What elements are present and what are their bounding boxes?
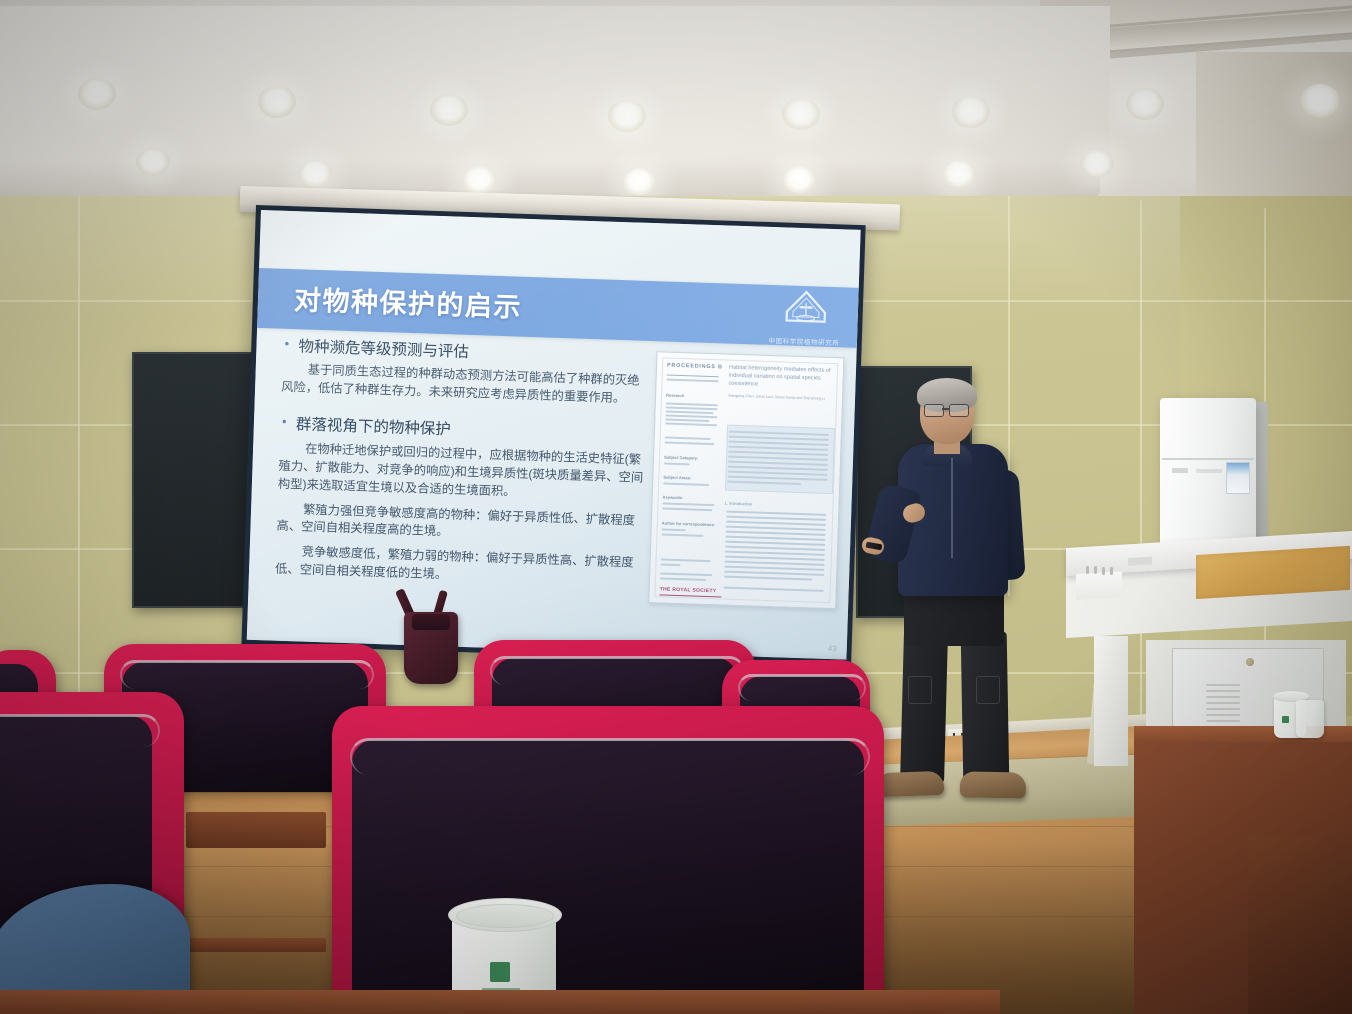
ceiling-downlight <box>782 166 816 194</box>
ceiling-downlight <box>1300 84 1340 118</box>
podium-leg <box>1094 636 1128 766</box>
ceiling-downlight <box>298 160 332 188</box>
ibcas-logo: 中国科学院植物研究所 <box>763 289 847 348</box>
ceiling-downlight <box>1080 150 1114 178</box>
projection-screen: 对物种保护的启示 中国科学院植物研究所 物种濒危等级预测与评估 基于同质生态过程… <box>247 210 861 660</box>
podium-button-icon[interactable] <box>1102 567 1105 575</box>
air-conditioner-brand <box>1172 468 1188 473</box>
ibcas-logo-icon <box>784 289 829 324</box>
blackboard-left <box>132 352 260 608</box>
cabinet-vent-slot <box>1206 690 1240 692</box>
presenter-shoe-right <box>960 771 1026 798</box>
ceiling-downlight <box>136 148 170 176</box>
trouser-pocket <box>908 676 932 704</box>
podium-button-icon[interactable] <box>1094 566 1097 574</box>
paper-cup-logo <box>490 962 510 982</box>
paper-meta-label: Subject Areas: <box>663 474 691 480</box>
paper-cup-logo <box>1282 716 1289 723</box>
slide-paragraph: 竞争敏感度低，繁殖力弱的物种：偏好于异质性高、扩散程度低、空间自相关程度低的生境… <box>275 543 646 591</box>
ceiling-downlight <box>430 94 468 126</box>
slide-body: 物种濒危等级预测与评估 基于同质生态过程的种群动态预测方法可能高估了种群的灭绝风… <box>275 337 653 598</box>
podium-label-tag <box>1128 557 1152 566</box>
presenter-leg-right <box>961 632 1010 785</box>
eyeglasses-bridge <box>942 408 949 410</box>
ceiling-downlight <box>952 96 990 128</box>
paper-intro-heading: 1. Introduction <box>724 501 752 507</box>
cabinet-vent-slot <box>1206 702 1240 704</box>
seat-piping <box>490 656 744 685</box>
paper-cup-lid-inner <box>456 904 554 928</box>
paper-meta-label: Keywords: <box>663 494 684 500</box>
ceiling-downlight <box>1126 88 1164 120</box>
cabinet-vent-slot <box>1206 708 1240 710</box>
ceiling-downlight <box>942 160 976 188</box>
podium-button-icon[interactable] <box>1086 566 1089 574</box>
ceiling-downlight <box>462 166 496 194</box>
energy-label-badge <box>1226 462 1250 494</box>
paper-thumbnail: PROCEEDINGS B Habitat heterogeneity medi… <box>648 351 844 609</box>
seat-piping <box>738 674 866 701</box>
trouser-pocket <box>976 676 1000 704</box>
ceiling-downlight <box>622 168 656 196</box>
eyeglasses-lens-right <box>949 404 969 417</box>
seat-back-cushion <box>352 740 864 1014</box>
slide-title: 对物种保护的启示 <box>293 278 522 325</box>
air-conditioner-model-label <box>1196 469 1222 473</box>
cabinet-vent-slot <box>1206 720 1240 722</box>
podium-front-panel <box>1196 546 1350 599</box>
lecture-hall-photo: 对物种保护的启示 中国科学院植物研究所 物种濒危等级预测与评估 基于同质生态过程… <box>0 0 1352 1014</box>
seat-piping <box>120 660 374 689</box>
podium-control-panel[interactable] <box>1076 571 1122 600</box>
ceiling-downlight <box>78 78 116 110</box>
podium-button-icon[interactable] <box>1110 567 1113 575</box>
presenter-leg-left <box>900 631 948 784</box>
presenter-shoe-left <box>878 771 945 797</box>
cabinet-vent-slot <box>1206 714 1240 716</box>
slide-paragraph: 在物种迁地保护或回归的过程中，应根据物种的生活史特征(繁殖力、扩散能力、对竞争的… <box>278 439 650 505</box>
ceiling-downlight <box>608 100 646 132</box>
handbag-flap <box>412 614 450 630</box>
slide-paragraph: 基于同质生态过程的种群动态预测方法可能高估了种群的灭绝风险，低估了种群生存力。未… <box>281 361 652 409</box>
seat-piping <box>0 714 160 747</box>
cabinet-vent-slot <box>1206 684 1240 686</box>
air-conditioner-seam <box>1162 458 1254 460</box>
slide-paragraph: 繁殖力强但竞争敏感度高的物种：偏好于异质性低、扩散程度高、空间自相关程度高的生境… <box>276 500 647 548</box>
seat-desk-shelf <box>186 812 326 848</box>
paper-cup-behind[interactable] <box>1296 700 1324 738</box>
wall-grout-line <box>1140 200 1142 720</box>
ceiling-downlight <box>258 86 296 118</box>
seat-piping <box>350 738 870 775</box>
front-desk-edge <box>0 990 1000 1014</box>
seat-desk-shelf <box>178 938 326 952</box>
wall-grout-line <box>78 196 80 716</box>
ceiling-downlight <box>782 98 820 130</box>
paper-title: Habitat heterogeneity mediates effects o… <box>728 364 835 392</box>
paper-section-label: Research <box>666 393 684 399</box>
presentation-slide: 对物种保护的启示 中国科学院植物研究所 物种濒危等级预测与评估 基于同质生态过程… <box>247 210 861 660</box>
wooden-desk-far-right[interactable] <box>1248 836 1352 1014</box>
ibcas-logo-caption: 中国科学院植物研究所 <box>763 335 845 348</box>
slide-number: 43 <box>828 644 837 653</box>
cabinet-knob-icon[interactable] <box>1246 658 1254 666</box>
jacket-zipper <box>951 458 953 558</box>
cabinet-vent-slot <box>1206 696 1240 698</box>
eyeglasses-lens-left <box>924 404 944 417</box>
